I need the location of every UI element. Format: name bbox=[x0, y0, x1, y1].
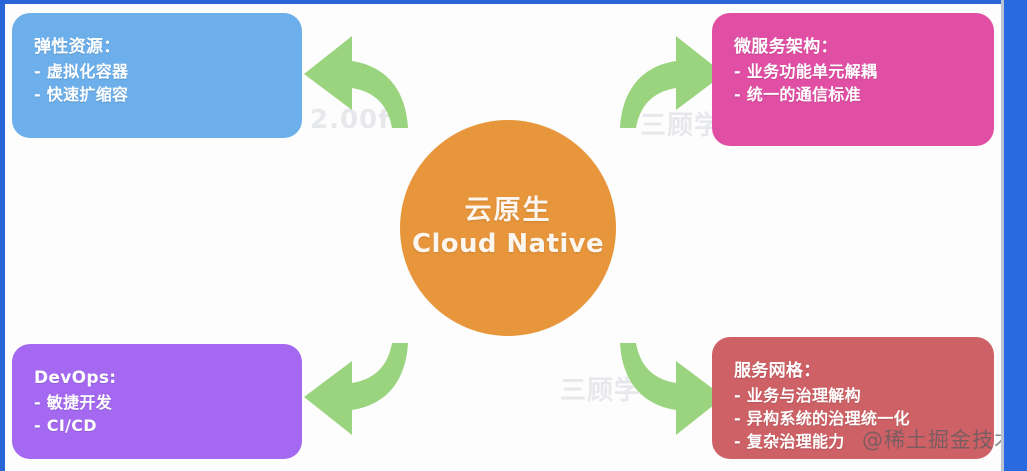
card-bullet: - 敏捷开发 bbox=[34, 392, 282, 415]
center-title-en: Cloud Native bbox=[412, 228, 604, 262]
card-bullet: - 虚拟化容器 bbox=[34, 61, 282, 84]
card-bullet: - 复杂治理能力 bbox=[734, 431, 974, 454]
slide-edge-bar-right bbox=[1004, 0, 1027, 471]
card-service-mesh[interactable]: 服务网格： - 业务与治理解构 - 异构系统的治理统一化 - 复杂治理能力 bbox=[712, 337, 994, 459]
card-bullet: - 异构系统的治理统一化 bbox=[734, 408, 974, 431]
card-bullet: - 快速扩缩容 bbox=[34, 84, 282, 107]
card-devops[interactable]: DevOps: - 敏捷开发 - CI/CD bbox=[12, 344, 302, 459]
card-microservice-architecture[interactable]: 微服务架构： - 业务功能单元解耦 - 统一的通信标准 bbox=[712, 13, 994, 146]
slide-edge-bar-left bbox=[0, 0, 5, 471]
card-bullet: - 业务功能单元解耦 bbox=[734, 61, 974, 84]
card-title: 微服务架构： bbox=[734, 35, 974, 59]
card-elastic-resources[interactable]: 弹性资源： - 虚拟化容器 - 快速扩缩容 bbox=[12, 13, 302, 138]
card-bullet: - 统一的通信标准 bbox=[734, 84, 974, 107]
arrow-down-left-icon bbox=[300, 338, 410, 447]
center-title-cn: 云原生 bbox=[465, 194, 552, 228]
slide-edge-bar-top bbox=[0, 0, 1027, 4]
card-bullet: - CI/CD bbox=[34, 415, 282, 438]
card-title: 服务网格： bbox=[734, 359, 974, 383]
card-title: 弹性资源： bbox=[34, 35, 282, 59]
card-title: DevOps: bbox=[34, 366, 282, 390]
center-node-cloud-native[interactable]: 云原生 Cloud Native bbox=[400, 120, 616, 336]
card-bullet: - 业务与治理解构 bbox=[734, 385, 974, 408]
arrow-up-left-icon bbox=[300, 28, 410, 137]
slide-canvas: 三顾学 2.00f 三顾学 2.00f 三顾学 三顾学 弹性资源： - 虚拟化容… bbox=[0, 0, 1027, 471]
